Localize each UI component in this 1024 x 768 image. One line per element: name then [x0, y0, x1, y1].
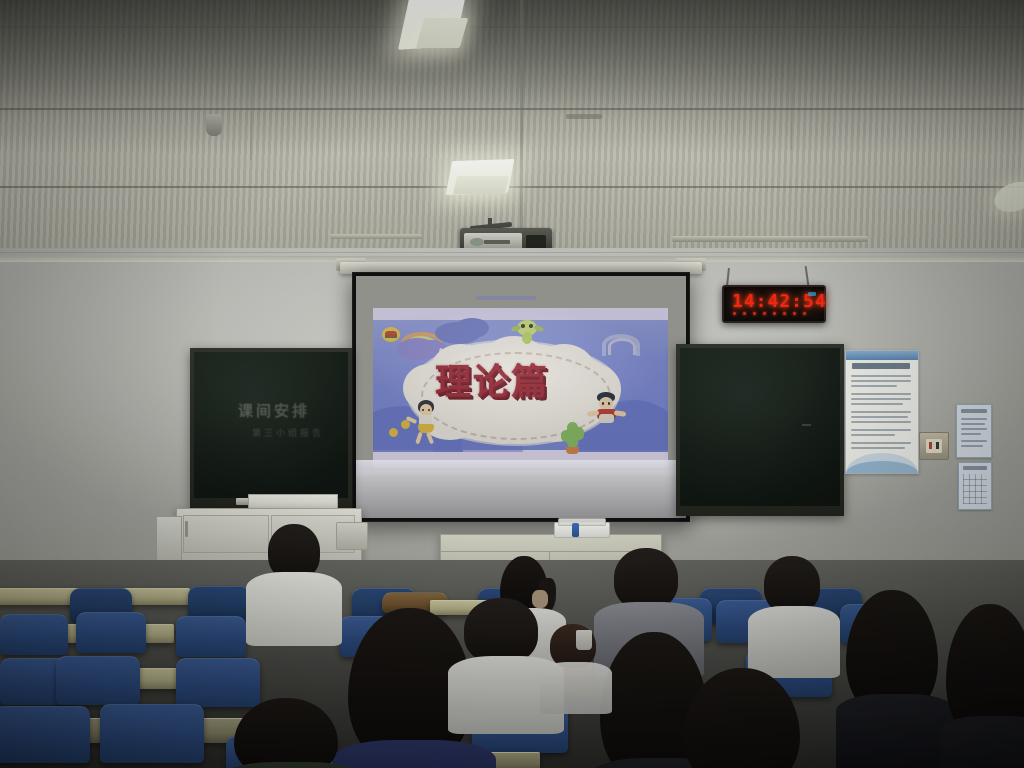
white-storage-box-lid: [558, 518, 606, 526]
fluorescent-light: [416, 18, 469, 48]
screen-surface: 理论篇: [356, 276, 686, 518]
ceiling-conduit: [330, 234, 422, 239]
projected-slide: 理论篇: [373, 308, 668, 468]
cup: [576, 630, 592, 650]
chalk-text-line1: 课间安排: [238, 400, 310, 421]
seat[interactable]: [0, 706, 90, 763]
classroom-photo: 理论篇: [0, 0, 1024, 768]
right-blackboard-face: [680, 348, 840, 506]
ceiling-seam: [0, 108, 1024, 110]
slide-header-text: [476, 296, 536, 300]
seat[interactable]: [176, 658, 260, 707]
projection-screen[interactable]: 理论篇: [352, 272, 690, 522]
ceiling-seam: [250, 0, 252, 160]
seat[interactable]: [56, 656, 140, 705]
notice-duty-roster: [958, 462, 992, 510]
fluorescent-light: [453, 176, 509, 194]
poster-title: [852, 363, 910, 369]
ceiling: [0, 0, 1024, 258]
rules-poster: [845, 350, 919, 474]
notice-schedule: [956, 404, 992, 458]
wall-trim: [0, 252, 1024, 253]
podium-side: [156, 516, 182, 564]
blue-bottle[interactable]: [572, 523, 579, 537]
seat[interactable]: [76, 612, 146, 653]
led-wall-clock: 14:42:54: [722, 285, 826, 323]
seat[interactable]: [0, 614, 68, 655]
podium-tray: [336, 522, 368, 550]
chalk-mark: [802, 424, 811, 426]
ceiling-seam: [520, 0, 523, 240]
chalk-text-line2: 第三小组报告: [252, 426, 324, 439]
screen-glare: [373, 308, 668, 468]
clock-indicator: [808, 292, 816, 296]
ceiling-seam: [0, 186, 1024, 188]
ceiling-sensor: [206, 114, 222, 136]
screen-lower-area: [356, 470, 686, 518]
screen-slide-edge: [356, 460, 686, 476]
wall-outlet[interactable]: [919, 432, 949, 460]
seat[interactable]: [100, 704, 204, 763]
ceiling-seam: [790, 0, 792, 150]
left-blackboard: 课间安排 第三小组报告: [190, 348, 352, 508]
ceiling-conduit: [672, 236, 868, 242]
projector-lens: [470, 238, 484, 246]
seat[interactable]: [176, 616, 246, 657]
ceiling-seam: [0, 26, 1024, 28]
ceiling-vent: [566, 114, 602, 119]
left-blackboard-face: 课间安排 第三小组报告: [194, 352, 348, 498]
right-blackboard: [676, 344, 844, 516]
